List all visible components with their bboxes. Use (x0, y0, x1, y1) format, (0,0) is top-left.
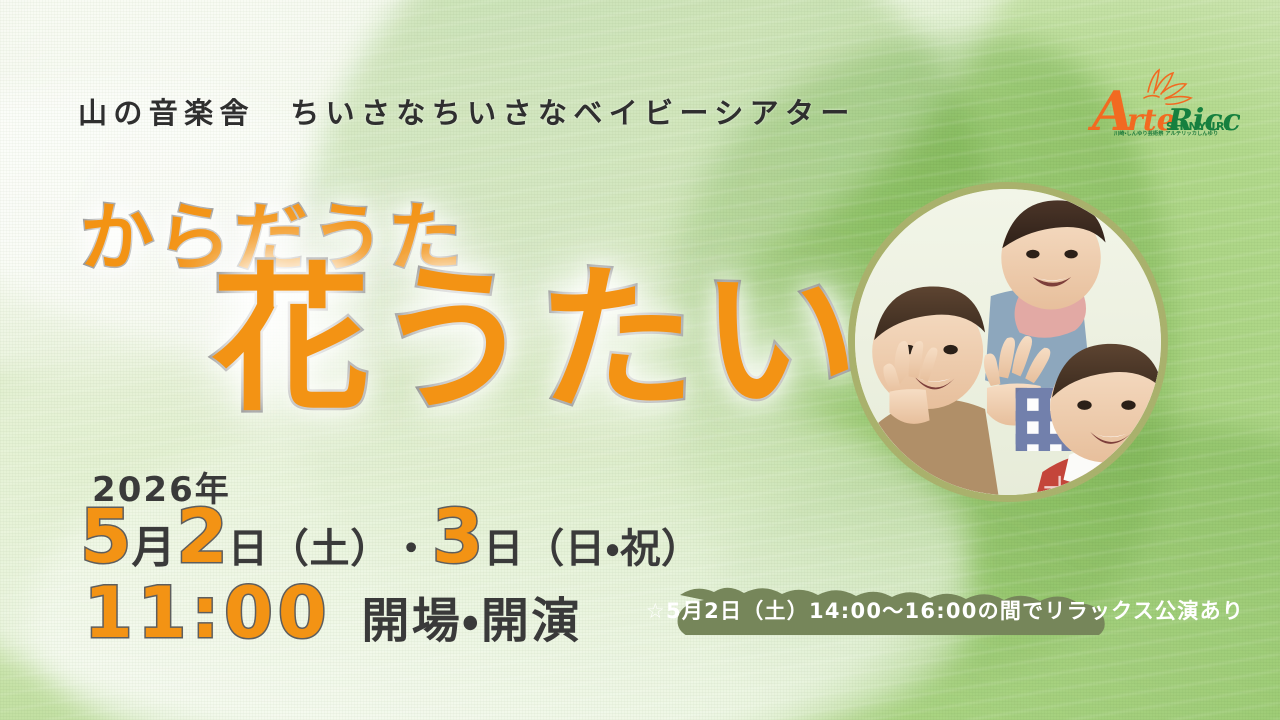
date-separator: ・ (391, 529, 432, 569)
date-day2-kanji: 日（日・祝） (483, 529, 701, 569)
date-day1-kanji: 日（土） (228, 529, 391, 569)
date-day1-number: 2 (176, 500, 228, 574)
event-time-line: 11:00 開場・開演 (84, 578, 582, 648)
relax-performance-text: ☆5月2日（土）14:00〜16:00の間でリラックス公演あり (646, 585, 1244, 635)
date-day2-number: 3 (432, 500, 484, 574)
title-hanautai: 花うたい (212, 262, 863, 420)
event-time-label: 開場・開演 (361, 597, 581, 645)
poster-canvas: 山の音楽舎 ちいさなちいさなベイビーシアター A rte Ricca SHINY… (0, 0, 1280, 720)
relax-performance-banner: ☆5月2日（土）14:00〜16:00の間でリラックス公演あり (646, 585, 1244, 635)
babies-photo (855, 189, 1161, 495)
babies-photo-circle (848, 182, 1168, 502)
arte-ricca-logo[interactable]: A rte Ricca SHINYURI 川崎・しんゆり芸術祭 アルテリッカしん… (1070, 62, 1240, 154)
date-month-kanji: 月 (132, 526, 177, 570)
event-date-line: 5 月 2 日（土） ・ 3 日（日・祝） (80, 500, 702, 574)
logo-caption: 川崎・しんゆり芸術祭 アルテリッカしんゆり (1114, 130, 1218, 137)
event-subtitle: 山の音楽舎 ちいさなちいさなベイビーシアター (78, 90, 856, 132)
event-time-value: 11:00 (84, 578, 331, 648)
date-month-number: 5 (80, 500, 132, 574)
